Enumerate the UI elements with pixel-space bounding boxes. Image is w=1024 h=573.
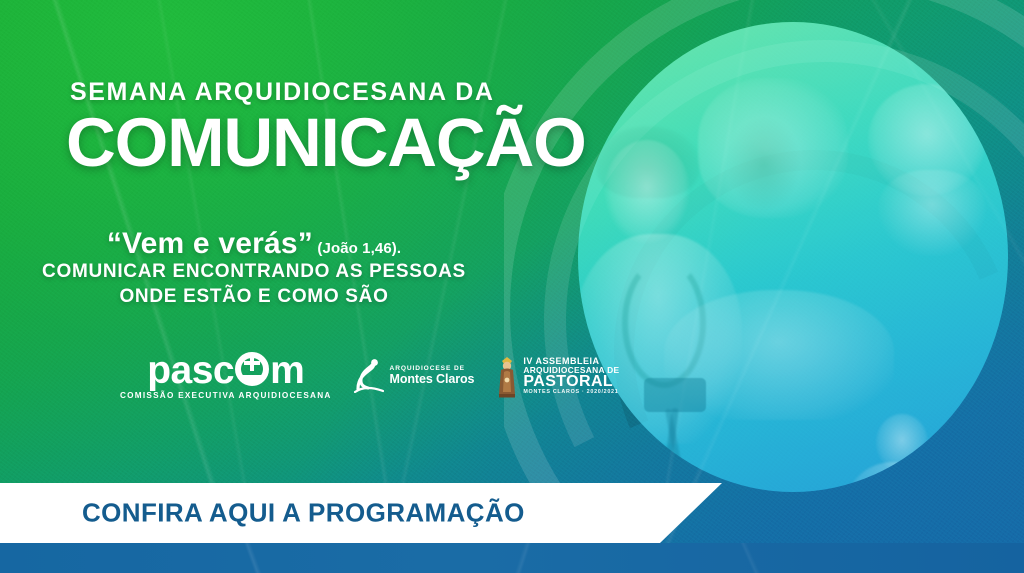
cta-banner[interactable]: CONFIRA AQUI A PROGRAMAÇÃO: [0, 483, 790, 543]
assembly-line-4: MONTES CLAROS · 2020/2021: [523, 390, 619, 395]
archdiocese-text: ARQUIDIOCESE DE Montes Claros: [390, 366, 475, 386]
pascom-logo: pasc m COMISSÃO EXECUTIVA ARQUIDIOCESANA: [120, 352, 332, 400]
photo-collage-circle: [578, 22, 1008, 492]
collage-color-tint: [578, 22, 1008, 492]
pascom-cross-horizontal: [244, 361, 260, 365]
scripture-citation: (João 1,46).: [317, 240, 401, 257]
assembly-logo: IV ASSEMBLEIA ARQUIDIOCESANA DE PASTORAL…: [496, 354, 619, 398]
pascom-cross-boat-icon: [235, 352, 269, 386]
event-eyebrow: SEMANA ARQUIDIOCESANA DA: [70, 80, 495, 105]
archdiocese-swoosh-icon: [354, 359, 384, 393]
poster-canvas: SEMANA ARQUIDIOCESANA DA COMUNICAÇÃO “Ve…: [0, 0, 1024, 573]
pascom-wordmark-part2: m: [270, 353, 304, 388]
pascom-boat-hull: [242, 375, 262, 380]
archdiocese-logo: ARQUIDIOCESE DE Montes Claros: [354, 359, 475, 393]
archdiocese-line-2: Montes Claros: [390, 373, 475, 386]
slogan-line-2: ONDE ESTÃO E COMO SÃO: [0, 285, 508, 309]
theme-quote: “Vem e verás”: [107, 227, 313, 260]
saint-statue-icon: [496, 354, 518, 398]
slogan-block: “Vem e verás” (João 1,46). COMUNICAR ENC…: [0, 228, 508, 309]
assembly-line-3: PASTORAL: [523, 374, 619, 390]
cta-label[interactable]: CONFIRA AQUI A PROGRAMAÇÃO: [82, 498, 525, 529]
pascom-subtitle: COMISSÃO EXECUTIVA ARQUIDIOCESANA: [120, 391, 332, 400]
headline-block: SEMANA ARQUIDIOCESANA DA COMUNICAÇÃO “Ve…: [0, 0, 600, 483]
quote-line: “Vem e verás” (João 1,46).: [0, 228, 508, 260]
slogan-line-1: COMUNICAR ENCONTRANDO AS PESSOAS: [0, 260, 508, 284]
pascom-wordmark-part1: pasc: [147, 353, 234, 388]
pascom-wordmark: pasc m: [147, 352, 304, 388]
logo-row: pasc m COMISSÃO EXECUTIVA ARQUIDIOCESANA: [120, 352, 619, 400]
footer-strip: [0, 543, 1024, 573]
page-title: COMUNICAÇÃO: [66, 108, 586, 177]
assembly-text: IV ASSEMBLEIA ARQUIDIOCESANA DE PASTORAL…: [523, 357, 619, 396]
footer-texture: [0, 543, 1024, 573]
